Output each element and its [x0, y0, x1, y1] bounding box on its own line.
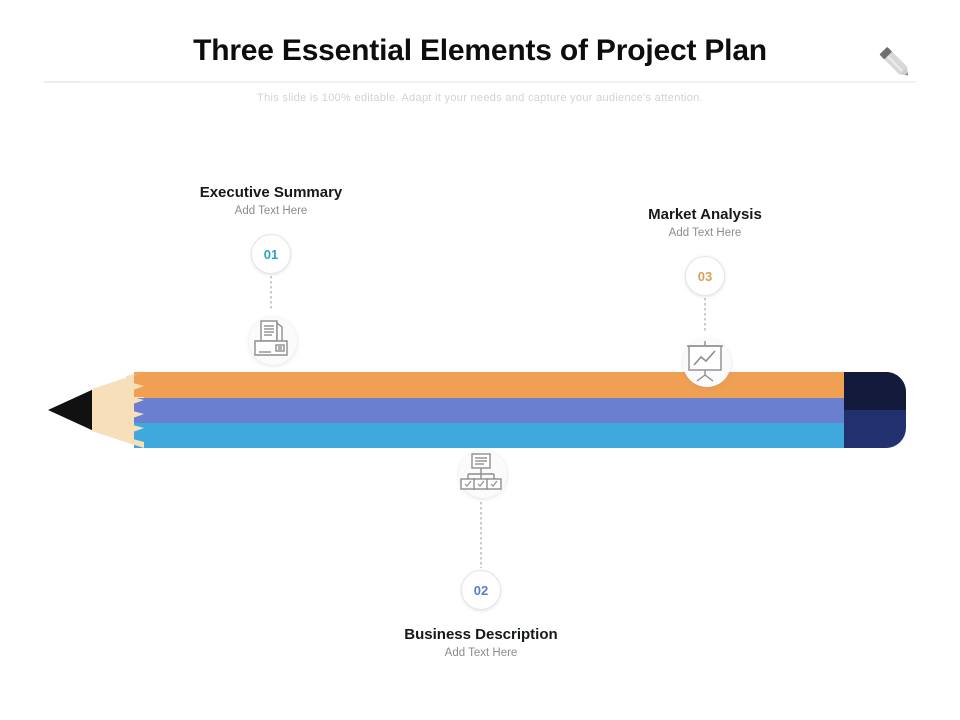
element-badge-02[interactable]: 02 — [461, 570, 501, 610]
element-number-03: 03 — [698, 269, 712, 284]
element-heading-02: Business Description — [404, 626, 557, 643]
presentation-chart-icon[interactable] — [677, 333, 733, 389]
element-number-01: 01 — [264, 247, 278, 262]
element-group-02: 02 Business Description Add Text Here — [366, 444, 596, 659]
header-divider — [44, 81, 916, 83]
page-subtitle: This slide is 100% editable. Adapt it yo… — [0, 92, 960, 104]
element-heading-03: Market Analysis — [648, 206, 762, 223]
element-badge-03[interactable]: 03 — [685, 256, 725, 296]
element-group-03: Market Analysis Add Text Here 03 — [590, 206, 820, 389]
pencil-tip — [48, 388, 96, 432]
element-group-01: Executive Summary Add Text Here 01 — [156, 184, 386, 367]
header-divider-stub — [44, 81, 80, 83]
element-subtext-02: Add Text Here — [445, 647, 518, 659]
printer-document-icon[interactable] — [243, 311, 299, 367]
connector-dots-01 — [270, 276, 272, 309]
element-number-02: 02 — [474, 583, 488, 598]
connector-dots-02 — [480, 502, 482, 568]
element-subtext-01: Add Text Here — [235, 205, 308, 217]
slide-canvas: Three Essential Elements of Project Plan… — [0, 0, 960, 720]
org-chart-icon[interactable] — [453, 444, 509, 500]
pencil-icon — [872, 40, 918, 86]
connector-dots-03 — [704, 298, 706, 331]
element-badge-01[interactable]: 01 — [251, 234, 291, 274]
page-title: Three Essential Elements of Project Plan — [0, 34, 960, 68]
element-subtext-03: Add Text Here — [669, 227, 742, 239]
element-heading-01: Executive Summary — [200, 184, 343, 201]
pencil-stripe-periwinkle — [134, 398, 844, 423]
